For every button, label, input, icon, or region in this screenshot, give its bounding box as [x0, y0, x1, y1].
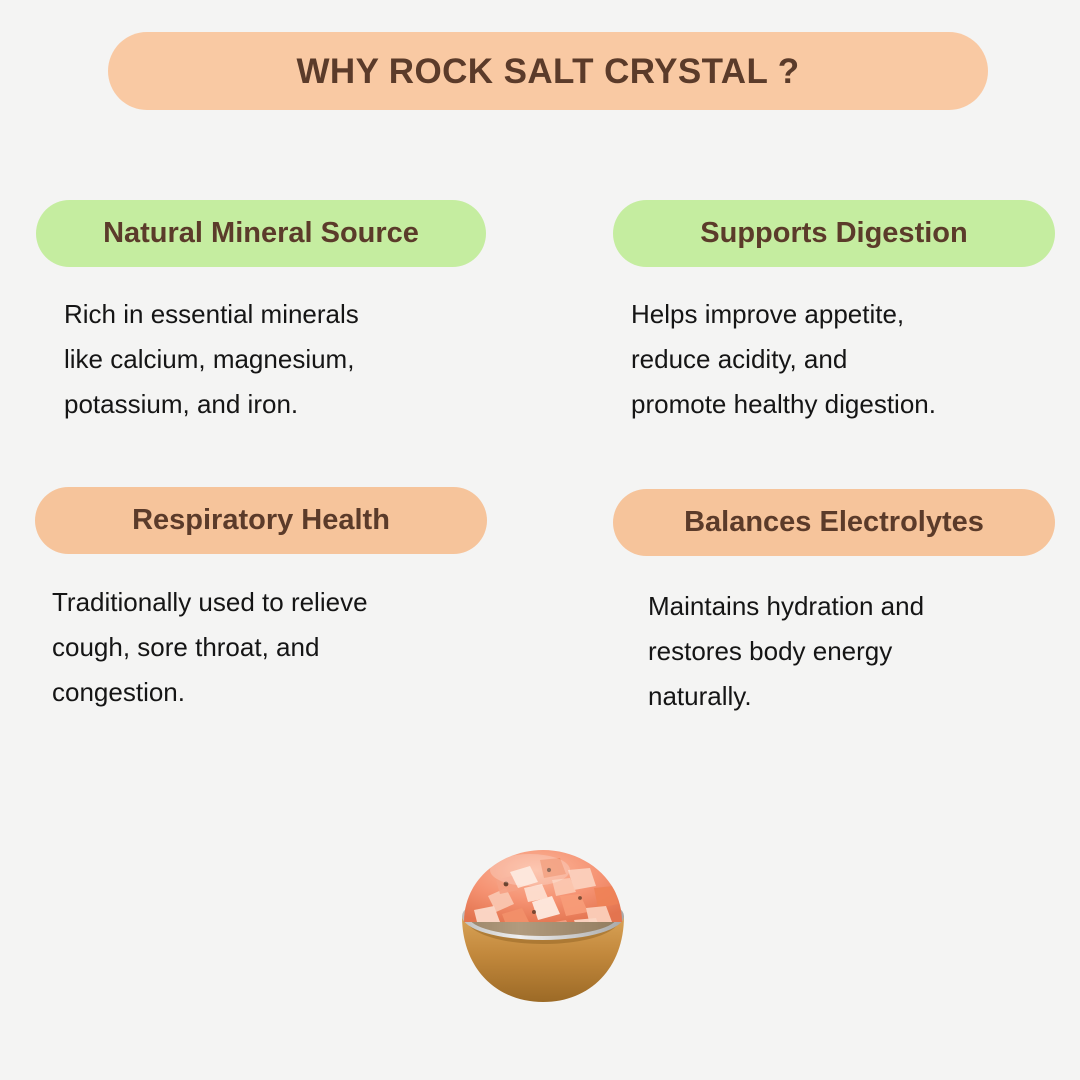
- page-title: WHY ROCK SALT CRYSTAL ?: [296, 54, 799, 89]
- benefit-card-balances-electrolytes: Balances Electrolytes Maintains hydratio…: [613, 489, 1055, 719]
- benefit-description: Maintains hydration and restores body en…: [648, 584, 1055, 719]
- benefit-title: Natural Mineral Source: [103, 219, 419, 248]
- bowl-of-rock-salt-icon: [448, 836, 638, 1011]
- benefit-card-respiratory-health: Respiratory Health Traditionally used to…: [35, 487, 487, 715]
- benefit-card-natural-mineral-source: Natural Mineral Source Rich in essential…: [36, 200, 486, 427]
- benefit-description: Rich in essential minerals like calcium,…: [64, 292, 486, 427]
- benefit-title: Respiratory Health: [132, 506, 390, 535]
- benefit-description: Helps improve appetite, reduce acidity, …: [631, 292, 1055, 427]
- benefit-title-pill: Natural Mineral Source: [36, 200, 486, 267]
- rock-salt-bowl-image: [448, 836, 638, 1011]
- benefit-title-pill: Respiratory Health: [35, 487, 487, 554]
- benefit-card-supports-digestion: Supports Digestion Helps improve appetit…: [613, 200, 1055, 427]
- benefit-description: Traditionally used to relieve cough, sor…: [52, 580, 487, 715]
- header-banner: WHY ROCK SALT CRYSTAL ?: [108, 32, 988, 110]
- benefit-title-pill: Balances Electrolytes: [613, 489, 1055, 556]
- benefit-title-pill: Supports Digestion: [613, 200, 1055, 267]
- benefit-title: Supports Digestion: [700, 219, 967, 248]
- benefit-title: Balances Electrolytes: [684, 508, 984, 537]
- infographic-poster: WHY ROCK SALT CRYSTAL ? Natural Mineral …: [0, 0, 1080, 1080]
